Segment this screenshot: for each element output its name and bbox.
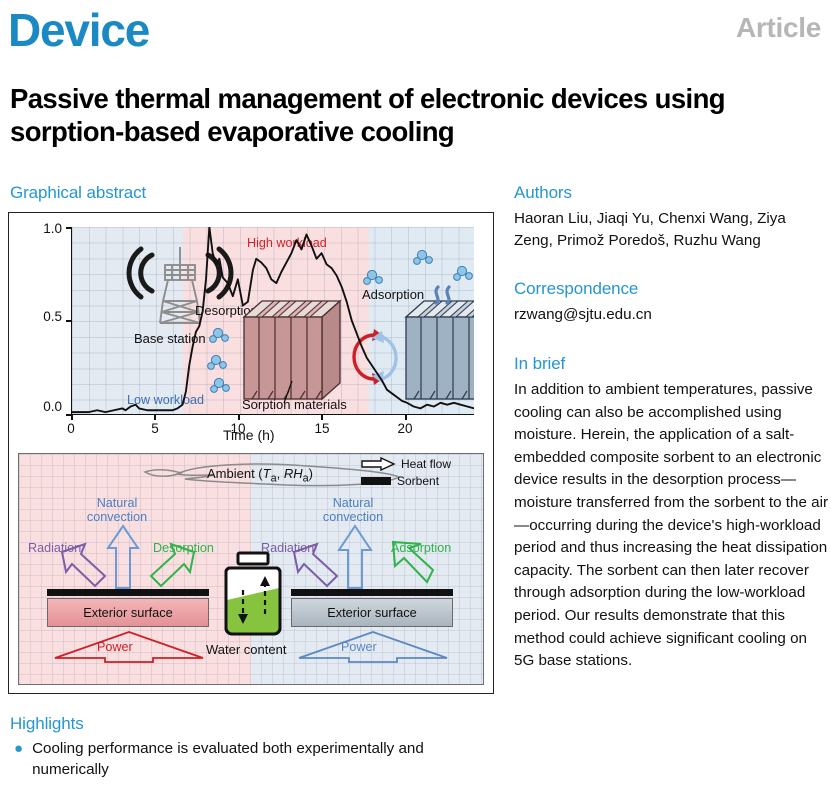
left-desorption-arrow-icon [149,542,197,590]
correspondence-email[interactable]: rzwang@sjtu.edu.cn [514,304,828,326]
x-tick-5: 5 [142,421,168,436]
in-brief-text: In addition to ambient temperatures, pas… [514,379,828,673]
workload-curve [72,227,474,414]
x-tick-0: 0 [58,421,84,436]
legend-item-sorbent: Sorbent [361,474,479,488]
highlights-list: ● Cooling performance is evaluated both … [14,738,494,780]
list-item: ● Cooling performance is evaluated both … [14,738,494,780]
y-tickmark [66,227,71,229]
y-tick-0: 0.0 [28,399,62,414]
highlights-heading: Highlights [10,714,84,734]
article-type-tag: Article [736,12,821,44]
cooling-mechanism-diagram: Ambient (Ta, RHa) Heat flow Sorbent Natu… [18,453,484,685]
x-tick-20: 20 [392,421,418,436]
y-tickmark [66,414,71,416]
highlight-text: Cooling performance is evaluated both ex… [32,738,494,780]
diagram-legend: Heat flow Sorbent [361,457,479,491]
left-convection-arrow-icon [107,524,139,590]
workload-chart: Normalized workload 1.0 0.5 0.0 [18,221,484,443]
ambient-label: Ambient (Ta, RHa) [207,466,313,485]
legend-label: Heat flow [401,457,451,471]
water-content-jar-icon [222,552,284,636]
right-convection-arrow-icon [337,524,373,590]
x-tickmark [154,415,156,420]
legend-label: Sorbent [397,474,439,488]
y-tick-0-5: 0.5 [28,309,62,324]
right-sorbent-layer [291,589,453,596]
left-sorbent-layer [47,589,209,596]
x-tickmark [405,415,407,420]
heat-flow-arrow-icon [361,457,395,471]
right-radiation-arrow-icon [291,542,339,590]
water-content-label: Water content [206,642,286,657]
page-title: Passive thermal management of electronic… [10,82,822,148]
graphical-abstract-heading: Graphical abstract [10,183,146,203]
left-radiation-arrow-icon [59,542,107,590]
left-natural-convection-label: Natural convection [80,496,154,524]
journal-logo-text: Device [8,4,149,56]
authors-heading: Authors [514,183,572,203]
journal-cover-page: Device Article Passive thermal managemen… [0,0,831,790]
journal-logo: Device [8,4,149,56]
bullet-icon: ● [14,738,23,780]
x-tick-15: 15 [309,421,335,436]
y-tickmark [66,320,71,322]
right-power-label: Power [341,640,377,654]
left-exterior-surface: Exterior surface [47,598,209,627]
graphical-abstract-figure: Normalized workload 1.0 0.5 0.0 [8,212,494,694]
correspondence-heading: Correspondence [514,279,638,299]
sorbent-swatch-icon [361,477,391,485]
chart-x-axis-label: Time (h) [223,427,275,443]
x-tickmark [238,415,240,420]
right-adsorption-arrow-icon [387,540,435,590]
legend-item-heat-flow: Heat flow [361,457,479,471]
in-brief-heading: In brief [514,354,565,374]
right-exterior-surface: Exterior surface [291,598,453,627]
x-tickmark [321,415,323,420]
left-power-label: Power [97,640,133,654]
authors-list: Haoran Liu, Jiaqi Yu, Chenxi Wang, Ziya … [514,208,828,251]
chart-plot-area: Base station Low workload High workload … [71,227,474,415]
y-tick-1: 1.0 [28,221,62,236]
x-tickmark [71,415,73,420]
right-natural-convection-label: Natural convection [316,496,390,524]
